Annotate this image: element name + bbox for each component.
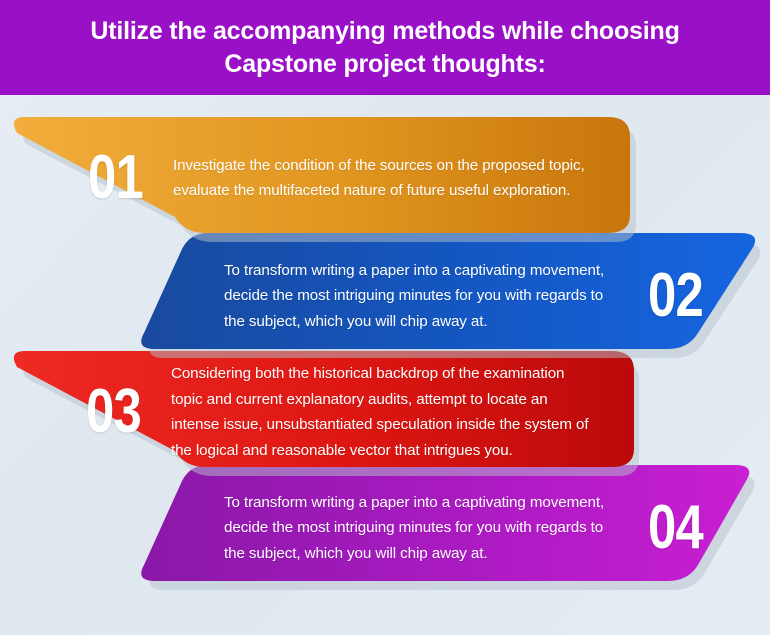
step-banner-3: 03 Considering both the historical backd… (0, 347, 770, 477)
page-title-line-2: Capstone project thoughts: (224, 48, 545, 81)
banner-4-content: To transform writing a paper into a capt… (0, 463, 770, 593)
step-banner-2: To transform writing a paper into a capt… (0, 231, 770, 361)
banner-3-content: 03 Considering both the historical backd… (0, 347, 770, 477)
banner-1-content: 01 Investigate the condition of the sour… (0, 113, 770, 243)
step-number-4: 04 (648, 497, 703, 559)
step-text-2: To transform writing a paper into a capt… (224, 258, 624, 335)
banner-2-content: To transform writing a paper into a capt… (0, 231, 770, 361)
infographic-root: Utilize the accompanying methods while c… (0, 0, 770, 635)
step-text-3: Considering both the historical backdrop… (171, 361, 596, 463)
step-text-4: To transform writing a paper into a capt… (224, 490, 624, 567)
step-number-2: 02 (648, 265, 703, 327)
step-number-1: 01 (88, 147, 143, 209)
page-title-line-1: Utilize the accompanying methods while c… (90, 15, 679, 48)
step-number-3: 03 (86, 381, 141, 443)
page-header: Utilize the accompanying methods while c… (0, 0, 770, 95)
step-banner-1: 01 Investigate the condition of the sour… (0, 113, 770, 243)
step-banner-4: To transform writing a paper into a capt… (0, 463, 770, 593)
step-text-1: Investigate the condition of the sources… (173, 153, 593, 204)
